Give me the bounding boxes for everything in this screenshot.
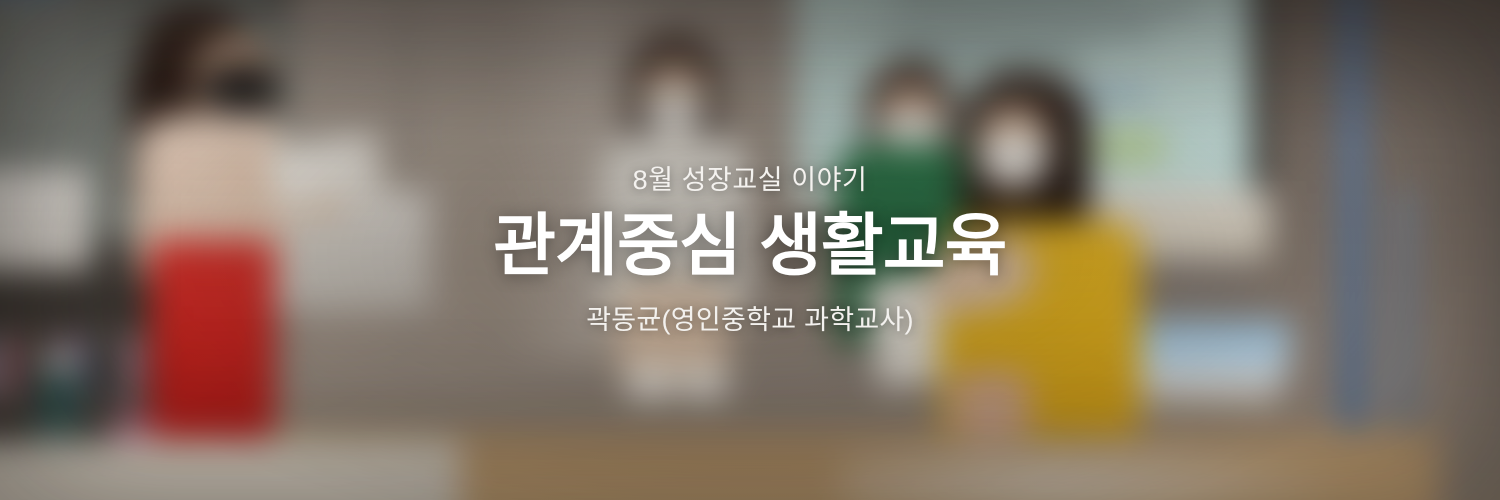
banner-headline: 관계중심 생활교육 [493, 208, 1006, 286]
banner-eyebrow: 8월 성장교실 이야기 [633, 164, 868, 196]
banner-byline: 곽동균(영인중학교 과학교사) [586, 304, 914, 336]
hero-banner: 8월 성장교실 이야기 관계중심 생활교육 곽동균(영인중학교 과학교사) [0, 0, 1500, 500]
banner-text-overlay: 8월 성장교실 이야기 관계중심 생활교육 곽동균(영인중학교 과학교사) [0, 0, 1500, 500]
